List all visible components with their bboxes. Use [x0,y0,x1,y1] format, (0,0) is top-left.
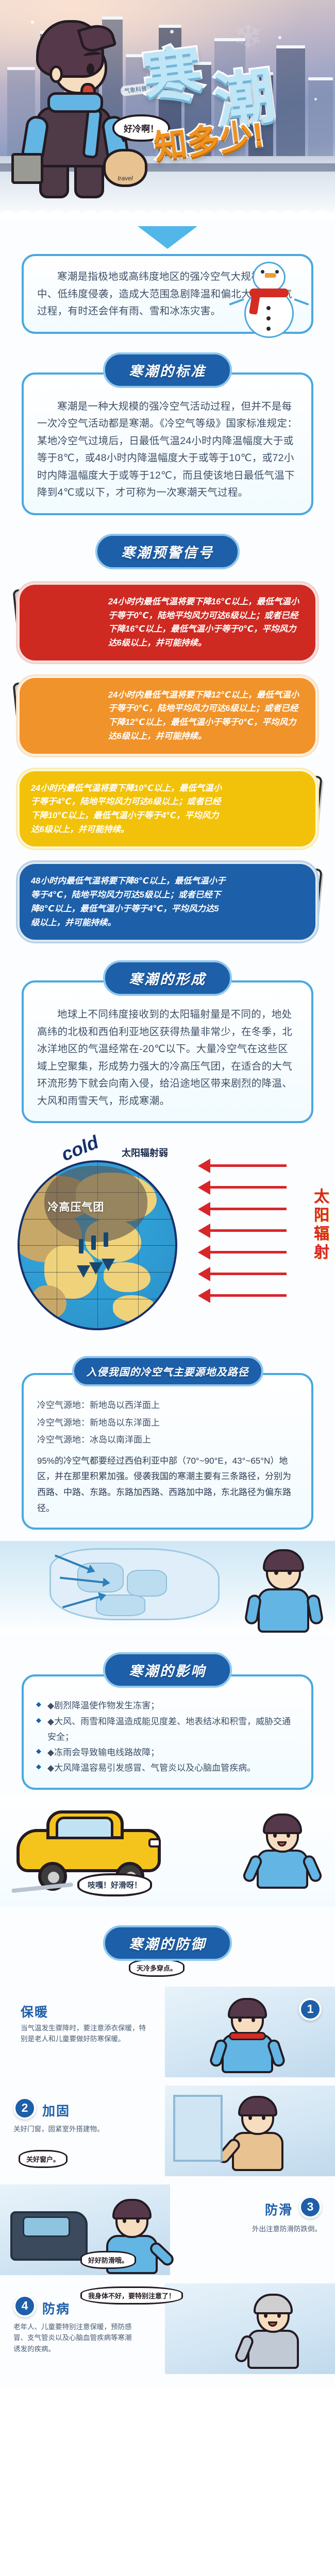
warning-card-blue: ℃ 蓝 寒潮 COLD WAVE 48小时内最低气温将要下降8℃以上，最低气温小… [18,862,317,942]
defense-body-4: 老年人、儿童要特别注意保暖，预防感冒、支气管炎以及心脑血管疾病等寒潮诱发的疾病。 [13,2321,137,2355]
person-hair [228,1998,267,2019]
boy-ear [49,65,63,83]
defense-body-2: 关好门窗，固紧室外搭建物。 [13,2124,132,2135]
route-line: 冷空气源地：冰岛以南洋面上 [37,1431,298,1448]
pedestrian-illustration [252,1811,313,1889]
snowman-button [266,306,271,310]
standard-card: 寒潮是一种大规模的强冷空气活动过程，但并不是每一次冷空气活动都是寒潮。《冷空气等… [22,372,313,515]
person-illustration [216,1996,278,2073]
standard-text: 寒潮是一种大规模的强冷空气活动过程，但并不是每一次冷空气活动都是寒潮。《冷空气等… [37,398,298,502]
defense-caption-3: 好好防滑哦。 [80,2251,136,2269]
car-accident-illustration: 吱嘎！好滑呀！ [0,1796,335,1907]
routes-section: 入侵我国的冷空气主要源地及路径 冷空气源地：新地岛以西洋面上 冷空气源地：新地岛… [0,1356,335,1637]
intro-card: 寒潮是指极地或高纬度地区的强冷空气大规模地向中、低纬度侵袭，造成大范围急剧降温和… [22,254,313,334]
person-body [232,2132,283,2171]
person-eye [273,1833,277,1838]
cold-flow-arrow-head [89,1262,103,1275]
defense-item-4: 4 防病 老年人、儿童要特别注意保暖，预防感冒、支气管炎以及心脑血管疾病等寒潮诱… [0,2283,335,2374]
defense-section: 寒潮的防御 天冷多穿点。 1 保暖 当气温发生骤 [0,1925,335,2389]
person-eye [262,2115,265,2120]
formation-card: 地球上不同纬度接收到的太阳辐射量是不同的，地处高纬的北极和西伯利亚地区获得热量非… [22,980,313,1123]
warning-card-yellow: ℃ 黄 寒潮 COLD WAVE 24小时内最低气温将要下降10℃以上，最低气温… [18,769,317,849]
person-hair [263,1814,302,1834]
defense-heading: 寒潮的防御 [103,1925,232,1961]
china-map-illustration [0,1541,335,1634]
impact-section: 寒潮的影响 ◆剧烈降温使作物发生冻害； ◆大风、雨雪和降温造成能见度差、地表结冰… [0,1652,335,1909]
formation-text: 地球上不同纬度接收到的太阳辐射量是不同的，地处高纬的北极和西伯利亚地区获得热量非… [37,1006,298,1110]
warning-heading-wrap: 寒潮预警信号 [0,534,335,569]
impact-item: ◆大风降温容易引发感冒、气管炎以及心脑血管疾病。 [36,1760,299,1776]
spacer [0,2374,335,2386]
defense-item-1: 1 保暖 当气温发生骤降时，要注意添衣保暖，特别是老人和儿童要做好防寒保暖。 [0,1987,335,2077]
route-line: 冷空气源地：新地岛以东洋面上 [37,1414,298,1431]
defense-photo [165,2086,335,2176]
defense-photo [165,2283,335,2374]
defense-caption-4: 我身体不好，要特别注意了！ [80,2286,183,2304]
standard-heading: 寒潮的标准 [103,352,232,388]
impact-item: ◆大风、雨雪和降温造成能见度差、地表结冰和积雪，威胁交通安全； [36,1714,299,1745]
defense-body-1: 当气温发生骤降时，要注意添衣保暖，特别是老人和儿童要做好防寒保暖。 [21,2023,149,2045]
boy-body [258,1588,309,1633]
radiation-weak-label: 太阳辐射弱 [122,1146,168,1159]
warning-text-orange: 24小时内最低气温将要下降12℃以上，最低气温小于等于0℃，陆地平均风力可达6级… [18,676,317,756]
sun-radiation-label: 太阳辐射 [308,1188,331,1262]
impact-item: ◆剧烈降温使作物发生冻害； [36,1698,299,1714]
person-eye [136,2218,140,2223]
formation-section: 寒潮的形成 地球上不同纬度接收到的太阳辐射量是不同的，地处高纬的北极和西伯利亚地… [0,960,335,1341]
person-body [247,2330,299,2369]
radiation-arrow [209,1251,287,1253]
cold-flow-arrow [79,1239,83,1253]
person-eye [287,1833,290,1838]
radiation-arrow [209,1273,287,1275]
cold-flow-arrow-head [77,1265,90,1278]
yellow-car [16,1808,166,1886]
hero-title-group: 气象科普 寒 潮 知多少! [113,24,330,183]
radiation-arrow [209,1229,287,1232]
standard-section: 寒潮的标准 寒潮是一种大规模的强冷空气活动过程，但并不是每一次冷空气活动都是寒潮… [0,352,335,518]
window-icon [173,2095,223,2162]
person-eye [238,2018,242,2022]
person-illustration [227,2094,289,2171]
defense-title-1: 保暖 [21,2002,48,2021]
arrow-down-icon [138,226,197,249]
intro-section: 寒潮是指极地或高纬度地区的强冷空气大规模地向中、低纬度侵袭，造成大范围急剧降温和… [0,226,335,337]
boy-eye [87,63,94,75]
person-eye [252,2018,255,2022]
warning-card-red: ℃ 红 寒潮 COLD WAVE 24小时内最低气温将要下降16℃以上，最低气温… [18,583,317,663]
warning-section: 寒潮预警信号 ℃ 红 寒潮 COLD WAVE 24小时内最低气温将要下降16℃… [0,534,335,945]
earth-globe: 冷高压气团 [18,1160,177,1330]
elder-illustration [242,2292,320,2374]
landmass [113,1295,157,1322]
warning-card-orange: ℃ 橙 寒潮 COLD WAVE 24小时内最低气温将要下降12℃以上，最低气温… [18,676,317,756]
person-hair [238,2096,277,2116]
person-eye [277,2313,281,2318]
snow-edge-decoration [0,206,335,219]
snowman-eye [261,270,264,274]
defense-top-caption-wrap: 天冷多穿点。 [0,1958,335,1978]
hero-subtitle: 知多少! [151,108,266,168]
person-eye [248,2115,252,2120]
snowman-button [266,316,271,320]
warning-text-red: 24小时内最低气温将要下降16℃以上，最低气温小于等于0℃，陆地平均风力可达6级… [18,583,317,663]
person-body [257,1850,308,1889]
radiation-arrow [209,1294,287,1297]
cold-flow-arrow-head [102,1259,115,1271]
impact-heading: 寒潮的影响 [103,1652,232,1688]
defense-title-3: 防滑 [265,2200,293,2218]
defense-number-2: 2 [13,2097,36,2120]
cold-flow-arrow [104,1232,108,1247]
routes-summary: 95%的冷空气都要经过西伯利亚中部（70°~90°E，43°~65°N）地区，并… [37,1453,298,1516]
car-headlight [148,1838,161,1848]
defense-top-caption: 天冷多穿点。 [129,1959,185,1977]
boy-illustration: travel [27,20,125,170]
person-eye [264,2313,267,2318]
defense-number-1: 1 [299,1998,322,2021]
warning-text-blue: 48小时内最低气温将要下降8℃以上，最低气温小于等于4℃，陆地平均风力可达5级以… [18,862,317,942]
warning-heading: 寒潮预警信号 [95,534,240,569]
defense-number-4: 4 [13,2295,36,2317]
snowman-eye [275,270,279,274]
defense-title-4: 防病 [42,2299,70,2317]
defense-body-3: 外出注意防滑防跌倒。 [224,2224,322,2235]
suitcase-icon [11,153,43,184]
car-window [56,1817,113,1839]
boy-scarf [47,92,103,113]
person-scarf [229,2032,266,2040]
route-line: 冷空气源地：新地岛以西洋面上 [37,1397,298,1414]
map-region [127,1570,167,1597]
radiation-arrow [209,1164,287,1167]
defense-item-2: 2 加固 关好门窗，固紧室外搭建物。 关好窗户。 [0,2086,335,2176]
warning-text-yellow: 24小时内最低气温将要下降10℃以上，最低气温小于等于4℃，陆地平均风力可达6级… [18,769,317,849]
boy-hair [263,1549,304,1572]
impact-item: ◆冻雨会导致输电线路故障； [36,1745,299,1760]
defense-number-3: 3 [299,2196,322,2218]
car-speech-bubble: 吱嘎！好滑呀！ [77,1873,152,1896]
snowman-button [266,327,271,331]
car-window [23,2216,70,2237]
map-boy-illustration [250,1549,317,1632]
impact-card: ◆剧烈降温使作物发生冻害； ◆大风、雨雪和降温造成能见度差、地表结冰和积雪，威胁… [22,1674,313,1789]
cold-flow-arrow [91,1235,96,1250]
infographic-page: ❄ ❄ travel 好冷啊！ [0,0,335,2389]
radiation-arrow [209,1208,287,1210]
formation-heading: 寒潮的形成 [103,960,232,996]
cold-air-mass-label: 冷高压气团 [47,1199,104,1214]
snowman-illustration [241,262,297,339]
defense-caption-2: 关好窗户。 [19,2150,68,2168]
sun-radiation-arrows [189,1161,287,1316]
hero-banner: ❄ ❄ travel 好冷啊！ [0,0,335,219]
snowman-arm [294,298,309,306]
defense-title-2: 加固 [42,2101,70,2120]
person-hair [112,2199,152,2219]
radiation-arrow [209,1186,287,1189]
globe-diagram: cold 太阳辐射弱 冷高压气团 [0,1131,335,1337]
hero-title-char-1: 寒 [137,25,207,118]
person-eye [123,2218,126,2223]
defense-item-3: 3 防滑 外出注意防滑防跌倒。 好好防滑哦。 [0,2184,335,2275]
person-hair-gray [254,2294,293,2314]
routes-heading: 入侵我国的冷空气主要源地及路径 [72,1356,263,1386]
snowman-nose [265,273,276,278]
routes-card: 冷空气源地：新地岛以西洋面上 冷空气源地：新地岛以东洋面上 冷空气源地：冰岛以南… [22,1373,313,1530]
